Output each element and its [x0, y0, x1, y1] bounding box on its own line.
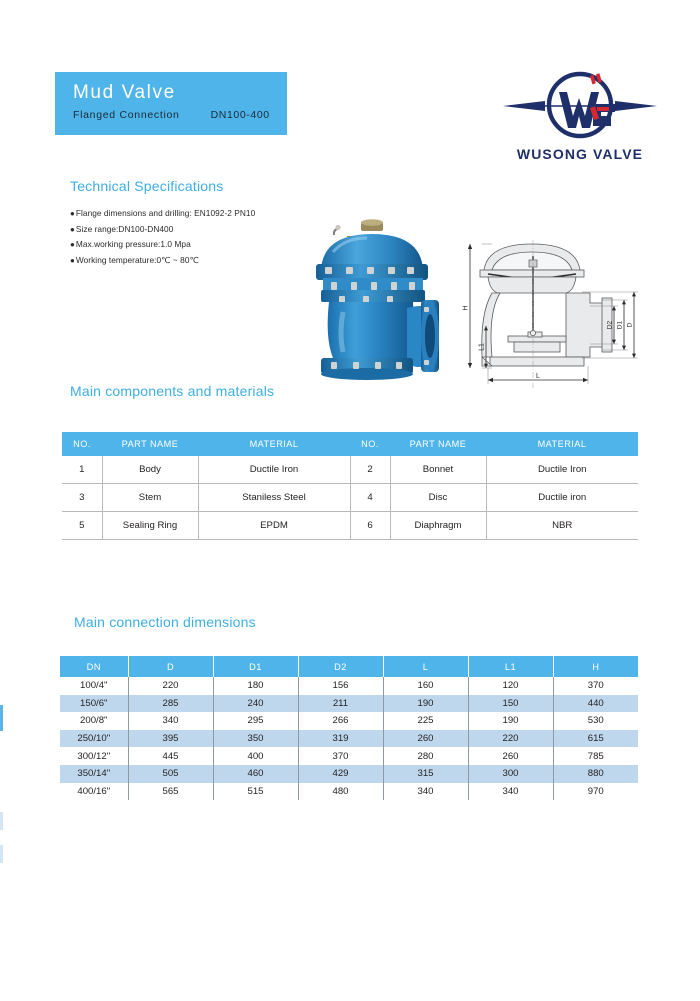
materials-table: NO. PART NAME MATERIAL NO. PART NAME MAT… [62, 432, 638, 540]
bullet-icon: ● [70, 225, 75, 234]
table-row: 350/14" 505 460 429 315 300 880 [60, 765, 638, 783]
cell-d1: 240 [213, 695, 298, 713]
cell-d2: 429 [298, 765, 383, 783]
cell-material: Ductile iron [486, 484, 638, 512]
cell-d1: 180 [213, 677, 298, 695]
cell-material: EPDM [198, 512, 350, 540]
cell-d2: 211 [298, 695, 383, 713]
cell-l: 160 [383, 677, 468, 695]
cell-dn: 100/4" [60, 677, 128, 695]
logo-mark [497, 68, 663, 144]
section-heading-specifications: Technical Specifications [70, 178, 223, 194]
connection-type-label: Flanged Connection [73, 109, 180, 121]
table-row: 3 Stem Staniless Steel 4 Disc Ductile ir… [62, 484, 638, 512]
cell-d1: 400 [213, 747, 298, 765]
table-row: 200/8" 340 295 266 225 190 530 [60, 712, 638, 730]
drawing-label-d: D [627, 322, 634, 327]
drawing-label-d2: D2 [607, 320, 614, 329]
cell-material: NBR [486, 512, 638, 540]
spec-text: Size range:DN100-DN400 [76, 224, 174, 234]
table-row: 100/4" 220 180 156 160 120 370 [60, 677, 638, 695]
cell-d: 565 [128, 783, 213, 801]
cell-l1: 220 [468, 730, 553, 748]
section-heading-dimensions: Main connection dimensions [74, 614, 256, 630]
cell-d: 340 [128, 712, 213, 730]
cell-h: 970 [553, 783, 638, 801]
cell-l1: 300 [468, 765, 553, 783]
valve-section-drawing-icon: H L1 L D2 D1 D [462, 240, 654, 388]
drawing-label-h: H [463, 305, 470, 310]
cell-part-name: Body [102, 456, 198, 484]
cell-no: 6 [350, 512, 390, 540]
cell-d2: 480 [298, 783, 383, 801]
dimensions-col-d1: D1 [213, 656, 298, 677]
cell-h: 615 [553, 730, 638, 748]
materials-col-partname-2: PART NAME [390, 432, 486, 456]
mud-valve-photo-icon [303, 212, 463, 384]
cell-l1: 260 [468, 747, 553, 765]
table-row: 150/6" 285 240 211 190 150 440 [60, 695, 638, 713]
product-title-block: Mud Valve Flanged Connection DN100-400 [55, 72, 287, 135]
dimensions-col-l1: L1 [468, 656, 553, 677]
company-name: WUSONG VALVE [497, 146, 663, 162]
drawing-label-l: L [536, 373, 540, 380]
spec-item: ●Size range:DN100-DN400 [70, 222, 330, 238]
edge-marker-top [0, 705, 3, 731]
cell-no: 5 [62, 512, 102, 540]
cell-part-name: Diaphragm [390, 512, 486, 540]
bullet-icon: ● [70, 209, 75, 218]
spec-item: ●Working temperature:0℃ ~ 80℃ [70, 253, 330, 269]
cell-d: 285 [128, 695, 213, 713]
cell-material: Ductile Iron [198, 456, 350, 484]
cell-d2: 319 [298, 730, 383, 748]
table-row: 1 Body Ductile Iron 2 Bonnet Ductile Iro… [62, 456, 638, 484]
cell-d: 505 [128, 765, 213, 783]
cell-l: 260 [383, 730, 468, 748]
dimensions-col-h: H [553, 656, 638, 677]
dimensions-col-dn: DN [60, 656, 128, 677]
cell-h: 530 [553, 712, 638, 730]
cell-d2: 370 [298, 747, 383, 765]
cell-l: 315 [383, 765, 468, 783]
materials-col-no-1: NO. [62, 432, 102, 456]
spec-text: Max.working pressure:1.0 Mpa [76, 239, 191, 249]
table-row: 250/10" 395 350 319 260 220 615 [60, 730, 638, 748]
spec-text: Working temperature:0℃ ~ 80℃ [76, 255, 199, 265]
datasheet-page: Mud Valve Flanged Connection DN100-400 [0, 0, 700, 1001]
cell-d2: 266 [298, 712, 383, 730]
cell-d: 395 [128, 730, 213, 748]
cell-d1: 350 [213, 730, 298, 748]
edge-marker-mid [0, 812, 3, 830]
cell-h: 370 [553, 677, 638, 695]
cell-l1: 120 [468, 677, 553, 695]
cell-part-name: Stem [102, 484, 198, 512]
drawing-label-d1: D1 [617, 320, 624, 329]
cell-d1: 295 [213, 712, 298, 730]
cell-d: 220 [128, 677, 213, 695]
cell-part-name: Bonnet [390, 456, 486, 484]
bullet-icon: ● [70, 256, 75, 265]
technical-drawing: H L1 L D2 D1 D [462, 240, 654, 388]
cell-l: 225 [383, 712, 468, 730]
cell-no: 3 [62, 484, 102, 512]
product-photo-mud-valve [303, 212, 463, 384]
size-range-label: DN100-400 [211, 109, 270, 121]
cell-material: Ductile Iron [486, 456, 638, 484]
dimensions-table-header-row: DN D D1 D2 L L1 H [60, 656, 638, 677]
cell-h: 880 [553, 765, 638, 783]
materials-col-material-1: MATERIAL [198, 432, 350, 456]
cell-dn: 200/8" [60, 712, 128, 730]
cell-d: 445 [128, 747, 213, 765]
edge-marker-bottom [0, 845, 3, 863]
cell-l1: 340 [468, 783, 553, 801]
cell-h: 440 [553, 695, 638, 713]
materials-col-no-2: NO. [350, 432, 390, 456]
cell-l1: 190 [468, 712, 553, 730]
spec-item: ●Max.working pressure:1.0 Mpa [70, 237, 330, 253]
cell-dn: 400/16" [60, 783, 128, 801]
cell-dn: 300/12" [60, 747, 128, 765]
cell-part-name: Disc [390, 484, 486, 512]
wusong-logo-icon [497, 68, 663, 144]
cell-l: 190 [383, 695, 468, 713]
cell-l: 280 [383, 747, 468, 765]
page-title: Mud Valve [73, 81, 287, 104]
materials-table-header-row: NO. PART NAME MATERIAL NO. PART NAME MAT… [62, 432, 638, 456]
cell-d2: 156 [298, 677, 383, 695]
cell-dn: 350/14" [60, 765, 128, 783]
company-logo: WUSONG VALVE [497, 68, 663, 170]
cell-material: Staniless Steel [198, 484, 350, 512]
title-subrow: Flanged Connection DN100-400 [73, 109, 287, 121]
dimensions-table: DN D D1 D2 L L1 H 100/4" 220 180 156 160… [60, 656, 638, 800]
specifications-list: ●Flange dimensions and drilling: EN1092-… [70, 206, 330, 268]
materials-col-material-2: MATERIAL [486, 432, 638, 456]
cell-no: 2 [350, 456, 390, 484]
spec-item: ●Flange dimensions and drilling: EN1092-… [70, 206, 330, 222]
cell-dn: 150/6" [60, 695, 128, 713]
cell-dn: 250/10" [60, 730, 128, 748]
materials-col-partname-1: PART NAME [102, 432, 198, 456]
cell-no: 4 [350, 484, 390, 512]
cell-part-name: Sealing Ring [102, 512, 198, 540]
dimensions-col-d: D [128, 656, 213, 677]
spec-text: Flange dimensions and drilling: EN1092-2… [76, 208, 255, 218]
cell-l: 340 [383, 783, 468, 801]
dimensions-col-l: L [383, 656, 468, 677]
table-row: 400/16" 565 515 480 340 340 970 [60, 783, 638, 801]
table-row: 5 Sealing Ring EPDM 6 Diaphragm NBR [62, 512, 638, 540]
cell-no: 1 [62, 456, 102, 484]
table-row: 300/12" 445 400 370 280 260 785 [60, 747, 638, 765]
bullet-icon: ● [70, 240, 75, 249]
drawing-label-l1: L1 [479, 343, 486, 351]
cell-l1: 150 [468, 695, 553, 713]
cell-h: 785 [553, 747, 638, 765]
cell-d1: 515 [213, 783, 298, 801]
section-heading-materials: Main components and materials [70, 383, 274, 399]
cell-d1: 460 [213, 765, 298, 783]
dimensions-col-d2: D2 [298, 656, 383, 677]
